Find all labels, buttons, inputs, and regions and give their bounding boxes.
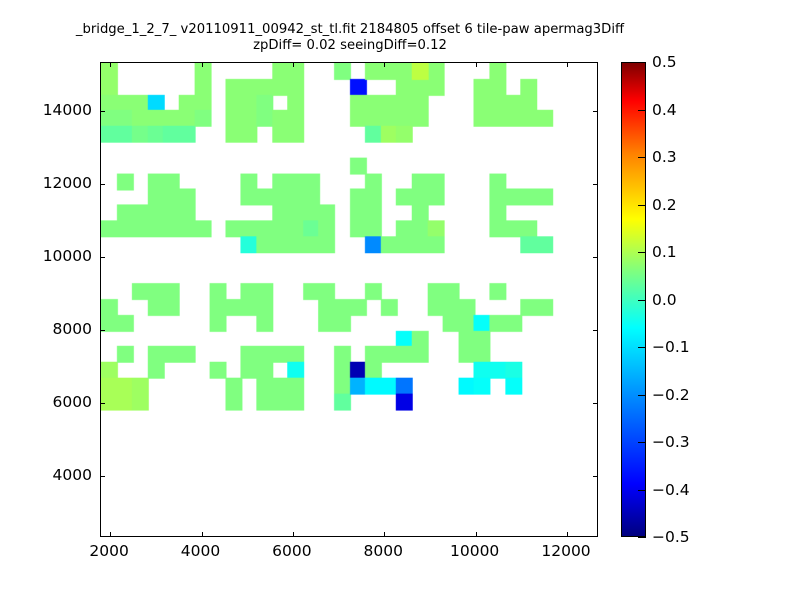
colorbar-tick <box>638 252 646 253</box>
y-tick-label: 8000 <box>53 320 92 338</box>
y-tick <box>593 403 597 404</box>
y-tick <box>593 330 597 331</box>
x-tick <box>202 532 203 536</box>
y-tick <box>593 111 597 112</box>
plot-title-block: _bridge_1_2_7_ v20110911_00942_st_tl.fit… <box>0 22 700 54</box>
colorbar-tick-label: −0.2 <box>652 386 690 404</box>
x-tick-label: 2000 <box>89 542 128 560</box>
colorbar-tick <box>638 347 646 348</box>
plot-title-sub: zpDiff= 0.02 seeingDiff=0.12 <box>0 38 700 54</box>
y-tick <box>101 330 105 331</box>
x-tick <box>384 63 385 67</box>
x-tick-label: 10000 <box>450 542 499 560</box>
colorbar-tick <box>638 205 646 206</box>
x-tick <box>110 63 111 67</box>
y-tick <box>101 403 105 404</box>
colorbar-tick-label: −0.1 <box>652 338 690 356</box>
colorbar-tick <box>638 157 646 158</box>
x-tick <box>567 63 568 67</box>
colorbar: −0.5−0.4−0.3−0.2−0.10.00.10.20.30.40.5 <box>621 62 646 537</box>
heatmap-image <box>101 63 597 536</box>
colorbar-tick <box>638 62 646 63</box>
x-tick <box>110 532 111 536</box>
x-tick <box>384 532 385 536</box>
colorbar-tick-label: −0.5 <box>652 528 690 546</box>
colorbar-tick <box>638 442 646 443</box>
colorbar-tick-label: 0.3 <box>652 148 677 166</box>
x-tick-label: 6000 <box>272 542 311 560</box>
x-tick-label: 4000 <box>181 542 220 560</box>
colorbar-tick-label: 0.5 <box>652 53 677 71</box>
x-tick-label: 12000 <box>541 542 590 560</box>
x-tick <box>202 63 203 67</box>
x-tick <box>476 532 477 536</box>
y-tick <box>101 184 105 185</box>
colorbar-tick-label: −0.3 <box>652 433 690 451</box>
x-tick <box>293 63 294 67</box>
x-tick-label: 8000 <box>364 542 403 560</box>
y-tick <box>101 111 105 112</box>
y-tick-label: 10000 <box>43 247 92 265</box>
colorbar-tick-label: 0.4 <box>652 101 677 119</box>
plot-axes <box>100 62 598 537</box>
x-tick <box>476 63 477 67</box>
plot-title-main: _bridge_1_2_7_ v20110911_00942_st_tl.fit… <box>0 22 700 38</box>
y-tick <box>101 257 105 258</box>
y-tick-labels: 400060008000100001200014000 <box>0 0 92 600</box>
x-tick <box>293 532 294 536</box>
y-tick-label: 6000 <box>53 393 92 411</box>
x-tick <box>567 532 568 536</box>
y-tick-label: 12000 <box>43 174 92 192</box>
y-tick-label: 14000 <box>43 101 92 119</box>
colorbar-tick-label: 0.2 <box>652 196 677 214</box>
colorbar-tick <box>638 537 646 538</box>
colorbar-tick <box>638 300 646 301</box>
y-tick <box>593 476 597 477</box>
colorbar-tick <box>638 395 646 396</box>
colorbar-tick <box>638 110 646 111</box>
y-tick <box>593 184 597 185</box>
figure-canvas: _bridge_1_2_7_ v20110911_00942_st_tl.fit… <box>0 0 800 600</box>
colorbar-tick <box>638 490 646 491</box>
y-tick-label: 4000 <box>53 466 92 484</box>
colorbar-tick-label: 0.1 <box>652 243 677 261</box>
colorbar-tick-label: −0.4 <box>652 481 690 499</box>
y-tick <box>101 476 105 477</box>
colorbar-tick-label: 0.0 <box>652 291 677 309</box>
y-tick <box>593 257 597 258</box>
